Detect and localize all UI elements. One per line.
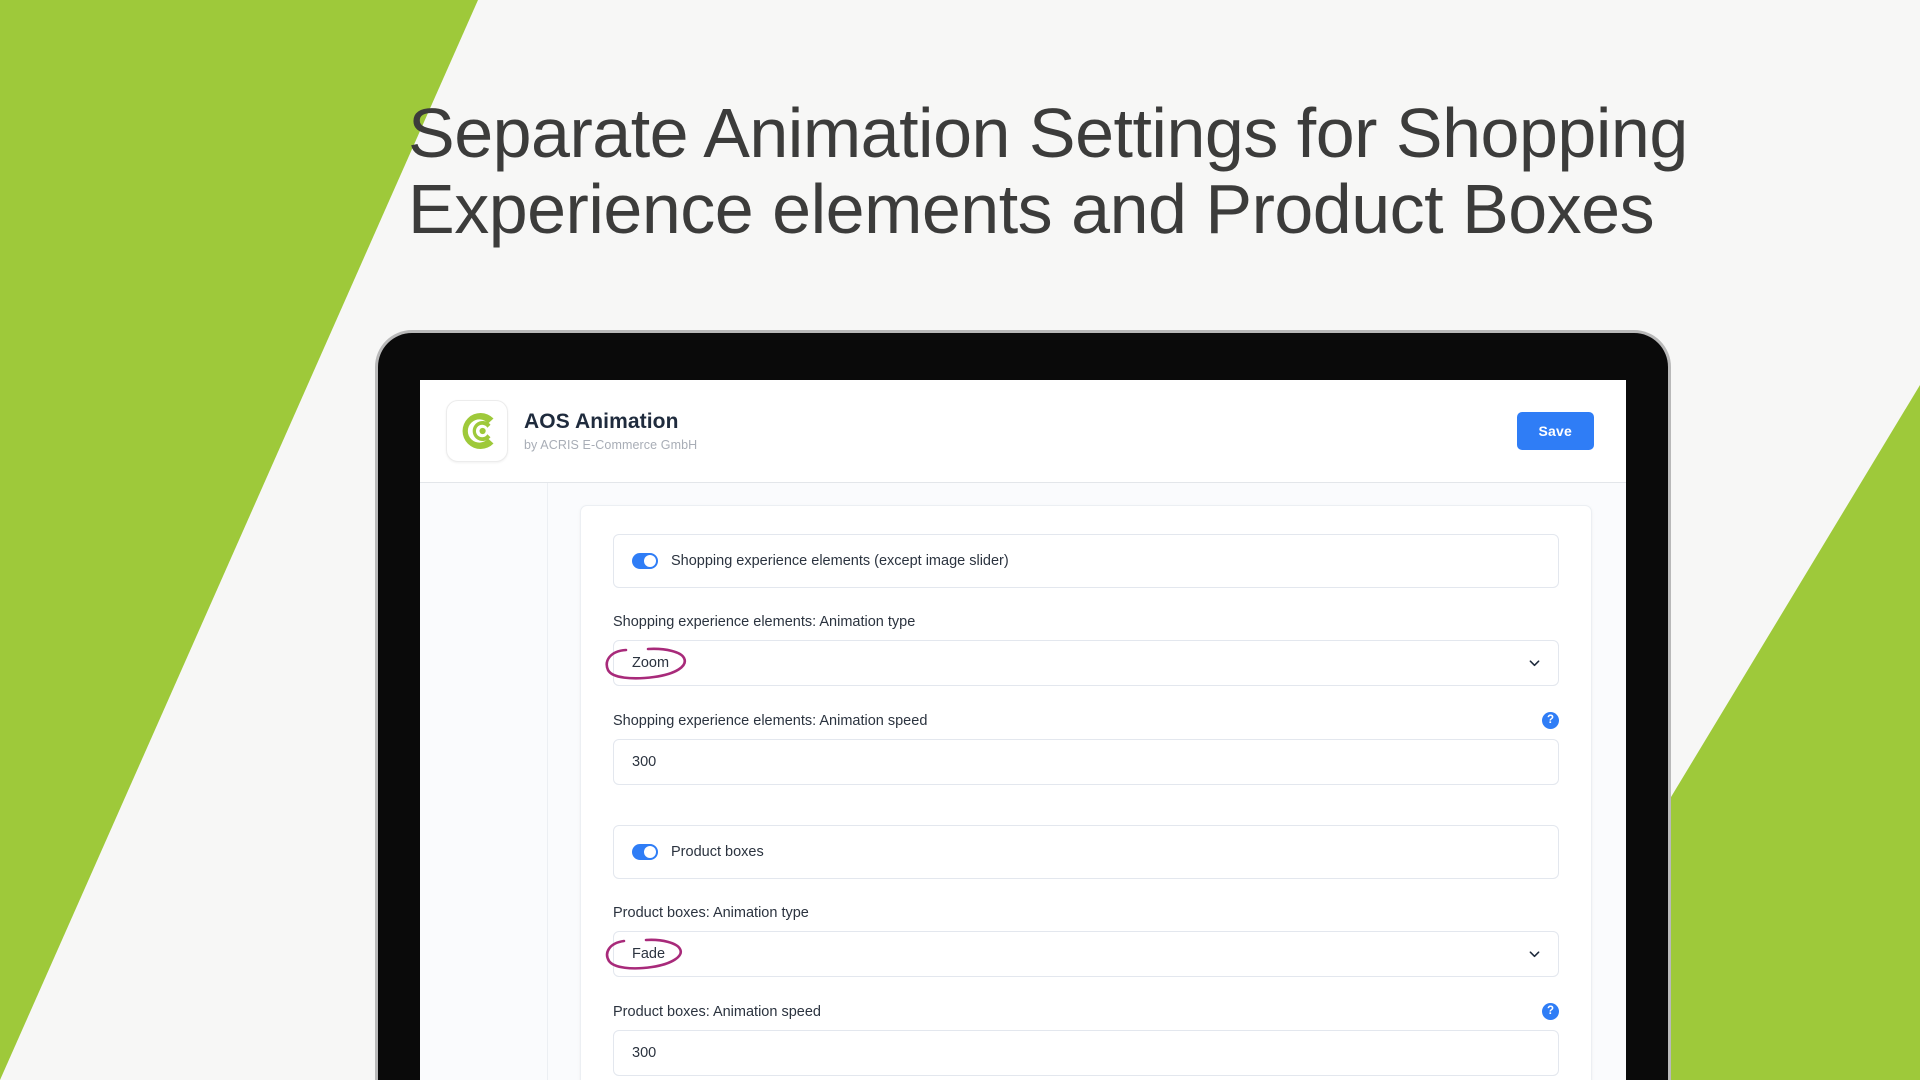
chevron-down-icon-shopping[interactable] [1529, 658, 1540, 669]
save-button[interactable]: Save [1517, 412, 1595, 450]
field-product-animation-speed: Product boxes: Animation speed ? 300 [613, 1003, 1559, 1076]
toggle-label-product-boxes: Product boxes [671, 844, 764, 860]
field-head-shopping-animation-speed: Shopping experience elements: Animation … [613, 712, 1559, 729]
input-product-animation-speed[interactable]: 300 [613, 1030, 1559, 1076]
app-body: Shopping experience elements (except ima… [420, 483, 1626, 1080]
field-head-shopping-animation-type: Shopping experience elements: Animation … [613, 614, 1559, 630]
help-icon-product-animation-speed[interactable]: ? [1542, 1003, 1559, 1020]
toggle-on-icon-product-boxes[interactable] [632, 844, 658, 860]
app-brand-text: AOS Animation by ACRIS E-Commerce GmbH [524, 410, 697, 452]
acris-swirl-logo-icon [446, 400, 508, 462]
select-shopping-animation-type[interactable]: Zoom [613, 640, 1559, 686]
chevron-down-icon-product[interactable] [1529, 949, 1540, 960]
field-label-shopping-animation-speed: Shopping experience elements: Animation … [613, 713, 927, 729]
select-product-animation-type[interactable]: Fade [613, 931, 1559, 977]
field-label-product-animation-type: Product boxes: Animation type [613, 905, 809, 921]
field-product-animation-type: Product boxes: Animation type Fade [613, 905, 1559, 977]
app-brand: AOS Animation by ACRIS E-Commerce GmbH [446, 400, 697, 462]
aos-animation-app: AOS Animation by ACRIS E-Commerce GmbH S… [420, 380, 1626, 1080]
toggle-on-icon-shopping-experience[interactable] [632, 553, 658, 569]
field-label-shopping-animation-type: Shopping experience elements: Animation … [613, 614, 915, 630]
app-header: AOS Animation by ACRIS E-Commerce GmbH S… [420, 380, 1626, 483]
toggle-row-shopping-experience[interactable]: Shopping experience elements (except ima… [613, 534, 1559, 588]
settings-card: Shopping experience elements (except ima… [580, 505, 1592, 1080]
select-value-shopping-animation-type: Zoom [632, 655, 669, 671]
toggle-label-shopping-experience: Shopping experience elements (except ima… [671, 553, 1009, 569]
field-shopping-animation-type: Shopping experience elements: Animation … [613, 614, 1559, 686]
app-main-content: Shopping experience elements (except ima… [548, 483, 1626, 1080]
input-shopping-animation-speed[interactable]: 300 [613, 739, 1559, 785]
promo-stage: Separate Animation Settings for Shopping… [0, 0, 1920, 1080]
app-title: AOS Animation [524, 410, 697, 434]
select-value-product-animation-type: Fade [632, 946, 665, 962]
field-head-product-animation-type: Product boxes: Animation type [613, 905, 1559, 921]
field-label-product-animation-speed: Product boxes: Animation speed [613, 1004, 821, 1020]
field-shopping-animation-speed: Shopping experience elements: Animation … [613, 712, 1559, 785]
app-sidebar-gutter [420, 483, 548, 1080]
input-value-shopping-animation-speed: 300 [632, 754, 656, 770]
tablet-device-frame: AOS Animation by ACRIS E-Commerce GmbH S… [378, 333, 1668, 1080]
toggle-row-product-boxes[interactable]: Product boxes [613, 825, 1559, 879]
promo-headline: Separate Animation Settings for Shopping… [408, 96, 1828, 247]
field-head-product-animation-speed: Product boxes: Animation speed ? [613, 1003, 1559, 1020]
app-vendor: by ACRIS E-Commerce GmbH [524, 438, 697, 452]
input-value-product-animation-speed: 300 [632, 1045, 656, 1061]
help-icon-shopping-animation-speed[interactable]: ? [1542, 712, 1559, 729]
tablet-screen: AOS Animation by ACRIS E-Commerce GmbH S… [420, 380, 1626, 1080]
section-spacer [613, 785, 1559, 825]
